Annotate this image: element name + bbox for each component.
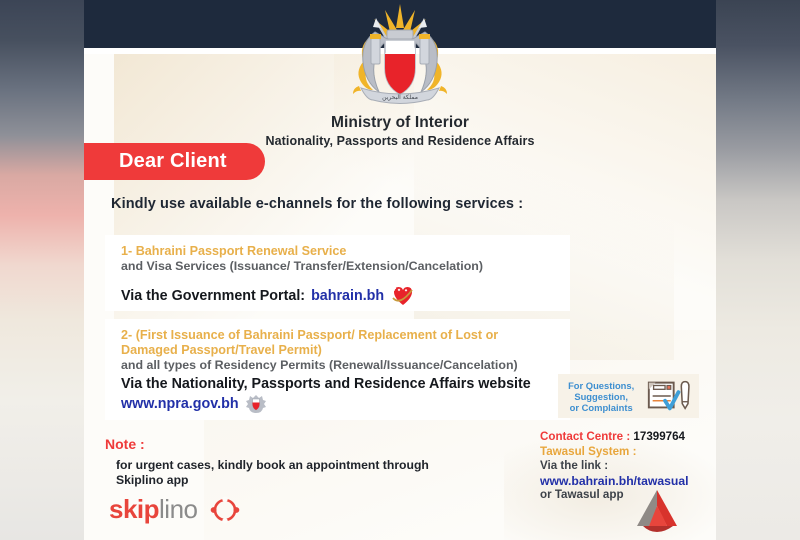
tawasul-logo-icon [629,486,685,534]
ministry-title: Ministry of Interior [84,114,716,132]
note-line-1: for urgent cases, kindly book an appoint… [116,458,429,473]
questions-suggestions-box: For Questions, Suggestion, or Complaints [558,374,699,418]
service-2-detail: and all types of Residency Permits (Rene… [121,358,556,373]
via-link-label: Via the link : [540,459,716,474]
svg-text:مملكة البحرين: مملكة البحرين [382,94,418,101]
service-2-title-line2: Damaged Passport/Travel Permit) [121,343,556,358]
questions-line-1: For Questions, [562,380,640,391]
contact-centre-number: 17399764 [633,430,685,443]
note-body: for urgent cases, kindly book an appoint… [116,458,429,488]
skiplino-logo: skiplino [109,494,242,525]
npra-emblem-icon [245,394,267,414]
service-2-link[interactable]: www.npra.gov.bh [121,395,239,414]
service-1-detail: and Visa Services (Issuance/ Transfer/Ex… [121,259,556,274]
tawasul-system-label: Tawasul System : [540,445,716,460]
dear-client-banner: Dear Client [84,143,265,180]
service-1-link[interactable]: bahrain.bh [311,287,384,306]
tawasul-app-label: or Tawasul app [540,488,716,503]
contact-block: Contact Centre : 17399764 Tawasul System… [540,430,716,503]
skiplino-word-red: skip [109,494,159,524]
bahrain-coat-of-arms-icon: مملكة البحرين [341,2,459,114]
emblem-container: مملكة البحرين [84,2,716,114]
service-2-title-line1: 2- (First Issuance of Bahraini Passport/… [121,328,556,343]
skiplino-circle-icon [208,495,242,525]
service-box-2: 2- (First Issuance of Bahraini Passport/… [105,319,570,420]
bahrain-portal-icon [390,284,416,308]
service-1-title: 1- Bahraini Passport Renewal Service [121,244,556,259]
skiplino-word-gray: lino [159,494,197,524]
questions-text: For Questions, Suggestion, or Complaints [562,380,640,413]
questions-line-2: Suggestion, [562,391,640,402]
dear-client-label: Dear Client [119,150,227,173]
service-1-via-label: Via the Government Portal: [121,287,305,306]
note-line-2: Skiplino app [116,473,429,488]
tawasul-link[interactable]: www.bahrain.bh/tawasual [540,474,716,489]
contact-centre-row: Contact Centre : 17399764 [540,430,716,445]
service-box-1: 1- Bahraini Passport Renewal Service and… [105,235,570,311]
service-2-via-label: Via the Nationality, Passports and Resid… [121,375,556,394]
questions-line-3: or Complaints [562,402,640,413]
intro-text: Kindly use available e-channels for the … [111,196,523,212]
skiplino-wordmark: skiplino [109,494,198,525]
document-pen-icon [645,376,695,416]
note-title: Note : [105,436,145,452]
contact-centre-label: Contact Centre : [540,430,630,443]
notice-card: مملكة البحرين Ministry of Interior Natio… [84,0,716,540]
